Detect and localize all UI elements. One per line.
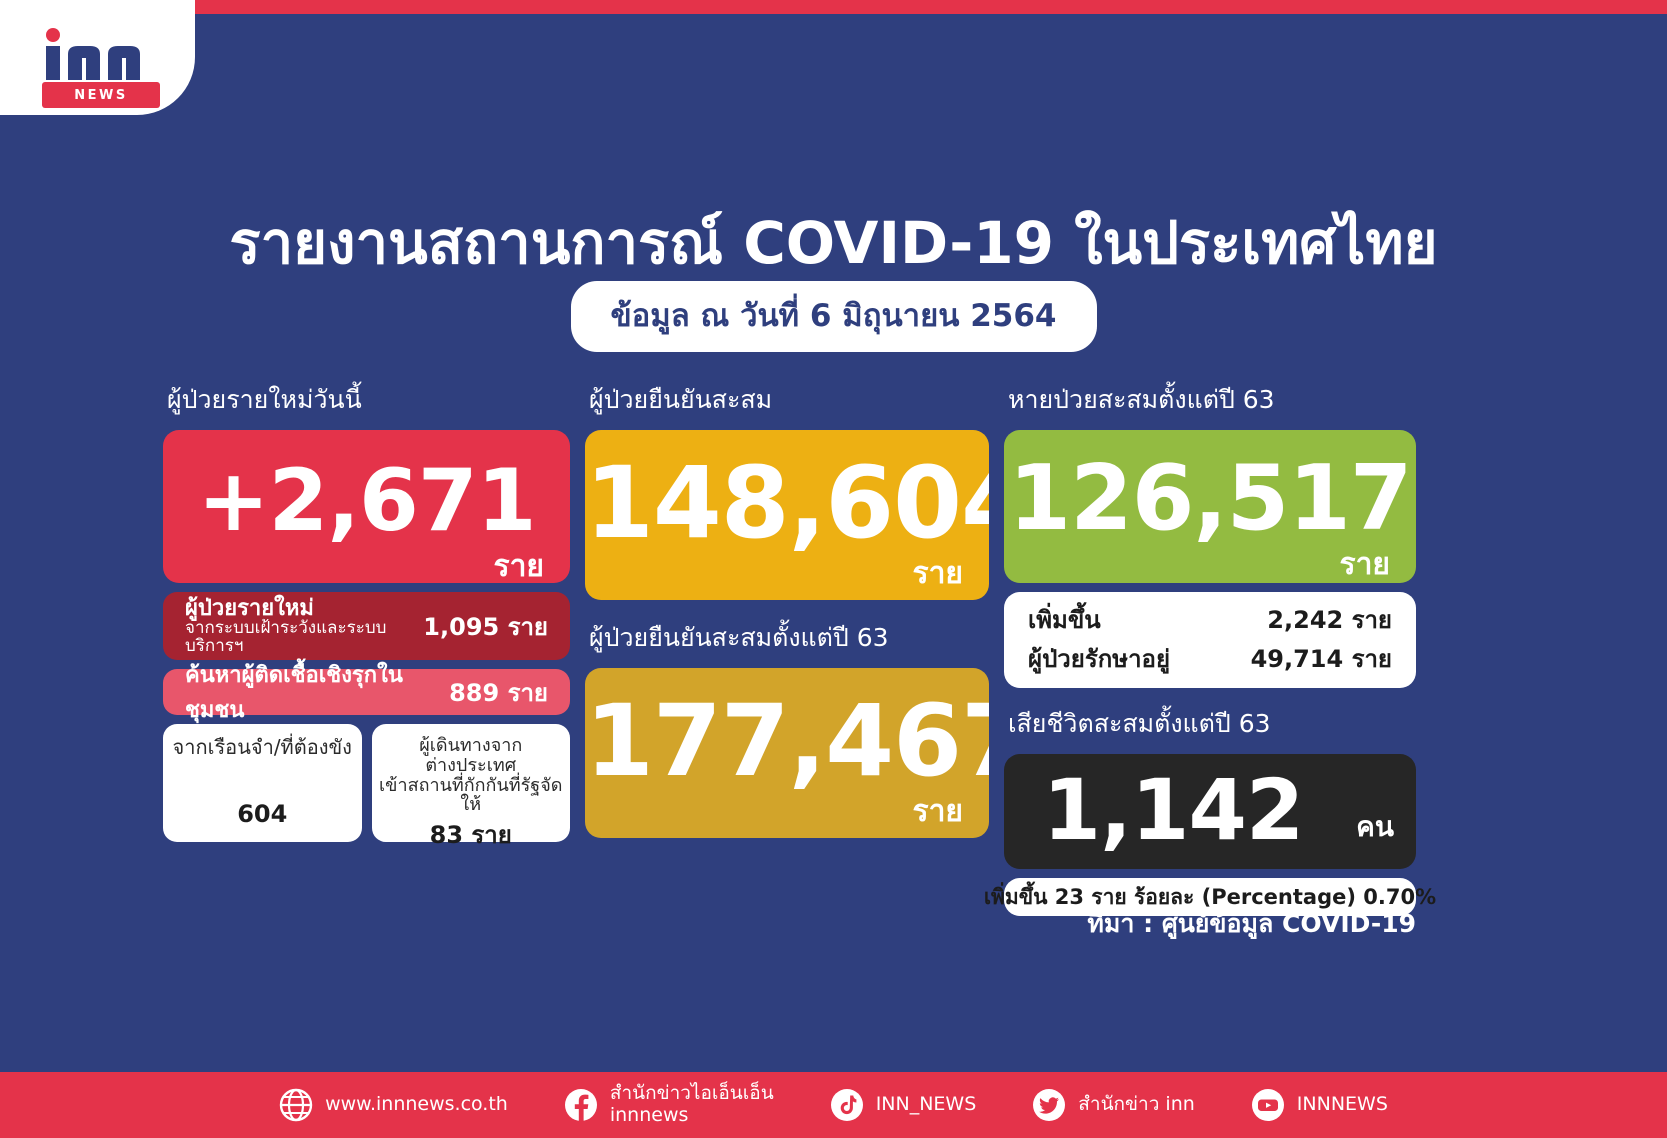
quarantine-label-line2: ต่างประเทศ: [378, 756, 565, 776]
active-search-label: ค้นหาผู้ติดเชื้อเชิงรุกในชุมชน: [185, 657, 449, 727]
cumulative-since63-section-label: ผู้ป่วยยืนยันสะสมตั้งแต่ปี 63: [589, 618, 989, 658]
cumulative-cases-card: 148,604 ราย: [585, 430, 989, 600]
left-section-label: ผู้ป่วยรายใหม่วันนี้: [167, 380, 570, 420]
quarantine-box: ผู้เดินทางจาก ต่างประเทศ เข้าสถานที่กักก…: [372, 724, 571, 842]
cumulative-section-label: ผู้ป่วยยืนยันสะสม: [589, 380, 989, 420]
date-pill: ข้อมูล ณ วันที่ 6 มิถุนายน 2564: [570, 281, 1096, 352]
inn-wordmark-icon: [42, 28, 162, 80]
surveillance-label: ผู้ป่วยรายใหม่ จากระบบเฝ้าระวังและระบบบร…: [185, 597, 423, 656]
footer-item-website[interactable]: www.innnews.co.th: [251, 1088, 536, 1122]
footer-website-text: www.innnews.co.th: [325, 1094, 508, 1116]
surveillance-label-line1: ผู้ป่วยรายใหม่: [185, 597, 423, 620]
inn-logo: NEWS: [42, 28, 162, 108]
footer-tiktok-text: INN_NEWS: [876, 1094, 977, 1116]
globe-icon: [279, 1088, 313, 1122]
deaths-value: 1,142: [1004, 754, 1416, 852]
recovered-value: 126,517: [1004, 430, 1416, 544]
footer-youtube-text: INNNEWS: [1297, 1094, 1388, 1116]
increase-value: 2,242 ราย: [1267, 600, 1392, 639]
top-accent-bar: [0, 0, 1667, 14]
footer-bar: www.innnews.co.th สำนักข่าวไอเอ็นเอ็น in…: [0, 1072, 1667, 1138]
logo-news-badge: NEWS: [42, 82, 160, 108]
footer-item-twitter[interactable]: สำนักข่าว inn: [1004, 1088, 1223, 1122]
surveillance-label-line2: จากระบบเฝ้าระวังและระบบบริการฯ: [185, 620, 423, 656]
cumulative-cases-unit: ราย: [585, 559, 989, 589]
twitter-icon: [1032, 1088, 1066, 1122]
page-title: รายงานสถานการณ์ COVID-19 ในประเทศไทย: [0, 196, 1667, 289]
footer-item-tiktok[interactable]: INN_NEWS: [802, 1088, 1005, 1122]
surveillance-value: 1,095 ราย: [423, 607, 548, 646]
quarantine-value: 83 ราย: [430, 815, 512, 854]
cumulative-cases-value: 148,604: [585, 430, 989, 553]
facebook-icon: [564, 1088, 598, 1122]
footer-twitter-text: สำนักข่าว inn: [1078, 1094, 1195, 1116]
prison-box: จากเรือนจำ/ที่ต้องขัง 604: [163, 724, 362, 842]
logo-plate: NEWS: [0, 0, 195, 115]
quarantine-label: ผู้เดินทางจาก ต่างประเทศ เข้าสถานที่กักก…: [378, 736, 565, 815]
quarantine-label-line3: เข้าสถานที่กักกันที่รัฐจัดให้: [378, 776, 565, 816]
footer-item-facebook[interactable]: สำนักข่าวไอเอ็นเอ็น innnews: [536, 1083, 802, 1127]
recovered-section-label: หายป่วยสะสมตั้งแต่ปี 63: [1008, 380, 1416, 420]
increase-label: เพิ่มขึ้น: [1028, 600, 1101, 639]
cumulative-since63-card: 177,467 ราย: [585, 668, 989, 838]
footer-facebook-line2: innnews: [610, 1105, 774, 1127]
source-attribution: ที่มา : ศูนย์ข้อมูล COVID-19: [1004, 904, 1416, 944]
cumulative-since63-unit: ราย: [585, 797, 989, 827]
footer-facebook-text: สำนักข่าวไอเอ็นเอ็น innnews: [610, 1083, 774, 1127]
deaths-card: 1,142 คน: [1004, 754, 1416, 869]
middle-column: ผู้ป่วยยืนยันสะสม 148,604 ราย ผู้ป่วยยืน…: [585, 380, 989, 838]
treating-value: 49,714 ราย: [1251, 639, 1392, 678]
prison-value: 604: [237, 800, 287, 828]
footer-facebook-line1: สำนักข่าวไอเอ็นเอ็น: [610, 1083, 774, 1105]
cumulative-since63-value: 177,467: [585, 668, 989, 791]
treating-row: ผู้ป่วยรักษาอยู่ 49,714 ราย: [1028, 639, 1392, 678]
left-white-boxes: จากเรือนจำ/ที่ต้องขัง 604 ผู้เดินทางจาก …: [163, 724, 570, 842]
active-search-row: ค้นหาผู้ติดเชื้อเชิงรุกในชุมชน 889 ราย: [163, 669, 570, 715]
deaths-unit: คน: [1356, 805, 1394, 849]
youtube-icon: [1251, 1088, 1285, 1122]
recovered-unit: ราย: [1004, 550, 1416, 580]
new-cases-card: +2,671 ราย: [163, 430, 570, 583]
quarantine-label-line1: ผู้เดินทางจาก: [378, 736, 565, 756]
prison-label: จากเรือนจำ/ที่ต้องขัง: [173, 736, 352, 758]
new-cases-unit: ราย: [163, 552, 570, 582]
recovered-card: 126,517 ราย: [1004, 430, 1416, 583]
recovered-detail-box: เพิ่มขึ้น 2,242 ราย ผู้ป่วยรักษาอยู่ 49,…: [1004, 592, 1416, 688]
footer-item-youtube[interactable]: INNNEWS: [1223, 1088, 1416, 1122]
left-column: ผู้ป่วยรายใหม่วันนี้ +2,671 ราย ผู้ป่วยร…: [163, 380, 570, 842]
right-column: หายป่วยสะสมตั้งแต่ปี 63 126,517 ราย เพิ่…: [1004, 380, 1416, 916]
active-search-value: 889 ราย: [449, 673, 548, 712]
surveillance-row: ผู้ป่วยรายใหม่ จากระบบเฝ้าระวังและระบบบร…: [163, 592, 570, 660]
increase-row: เพิ่มขึ้น 2,242 ราย: [1028, 600, 1392, 639]
deaths-section-label: เสียชีวิตสะสมตั้งแต่ปี 63: [1008, 704, 1416, 744]
treating-label: ผู้ป่วยรักษาอยู่: [1028, 639, 1170, 678]
tiktok-icon: [830, 1088, 864, 1122]
new-cases-value: +2,671: [163, 430, 570, 544]
